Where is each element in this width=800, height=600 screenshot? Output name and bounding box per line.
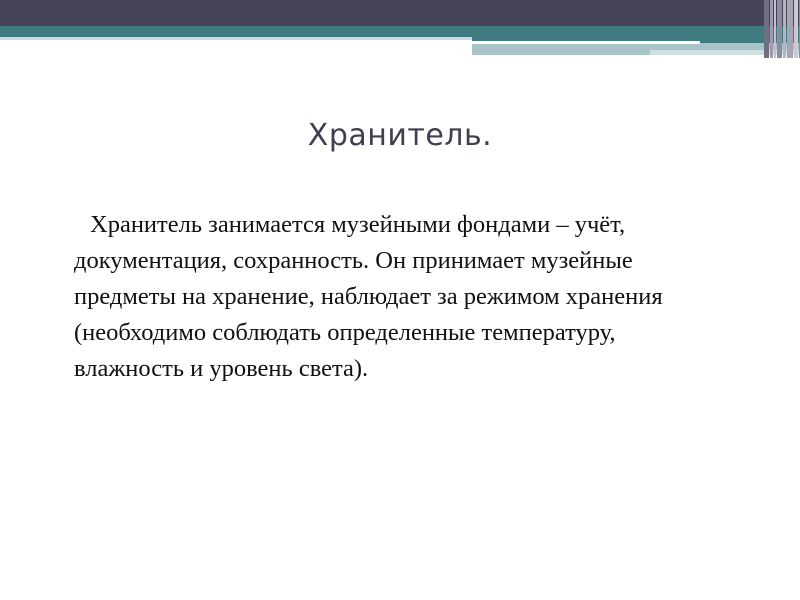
banner-vertical-stripe-1 [770, 0, 773, 58]
banner-vertical-stripe-5 [787, 0, 793, 58]
header-decorative-banner [0, 0, 800, 62]
slide-body-text: Хранитель занимается музейными фондами –… [60, 207, 720, 387]
banner-vertical-stripe-4 [783, 0, 786, 58]
banner-vertical-stripe-0 [764, 0, 769, 58]
banner-vertical-stripes [764, 0, 800, 58]
banner-vertical-stripe-3 [777, 0, 782, 58]
presentation-slide: Хранитель. Хранитель занимается музейным… [0, 0, 800, 600]
banner-mid-band-step [472, 50, 650, 55]
slide-title: Хранитель. [0, 118, 800, 154]
slide-body-block: Хранитель занимается музейными фондами –… [60, 207, 720, 387]
banner-white-separator [472, 41, 700, 44]
banner-dark-band [0, 0, 800, 26]
banner-vertical-stripe-2 [774, 0, 776, 58]
banner-teal-band-left [0, 26, 472, 37]
banner-vertical-stripe-6 [794, 0, 798, 58]
banner-pale-band-left [0, 37, 472, 40]
